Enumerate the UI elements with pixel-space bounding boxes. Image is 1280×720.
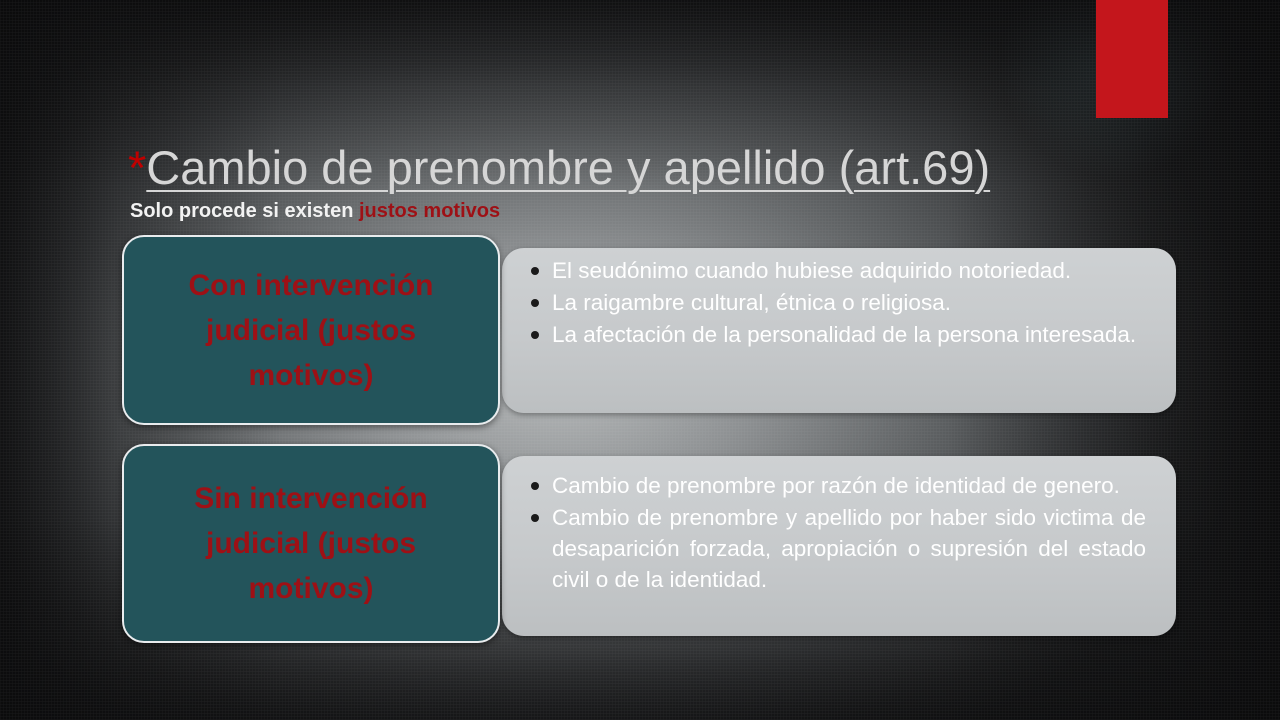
category-box-2[interactable]: Sin intervención judicial (justos motivo… [122,444,500,643]
bullet-list-1: El seudónimo cuando hubiese adquirido no… [528,255,1146,351]
bullet-text: Cambio de prenombre y apellido por haber… [552,502,1146,595]
category-box-1[interactable]: Con intervención judicial (justos motivo… [122,235,500,425]
page-title: *Cambio de prenombre y apellido (art.69) [128,140,1108,196]
category-label-2: Sin intervención judicial (justos motivo… [141,476,481,611]
bullet-text: La afectación de la personalidad de la p… [552,319,1146,350]
content-row-2: Sin intervención judicial (justos motivo… [122,444,1176,643]
list-item: La raigambre cultural, étnica o religios… [528,287,1146,318]
bullet-text: El seudónimo cuando hubiese adquirido no… [552,255,1146,286]
title-asterisk: * [128,141,146,194]
list-item: La afectación de la personalidad de la p… [528,319,1146,350]
bullet-text: La raigambre cultural, étnica o religios… [552,287,1146,318]
list-item: El seudónimo cuando hubiese adquirido no… [528,255,1146,286]
bullet-text: Cambio de prenombre por razón de identid… [552,470,1146,501]
content-row-1: Con intervención judicial (justos motivo… [122,235,1176,425]
slide-canvas: *Cambio de prenombre y apellido (art.69)… [0,0,1280,720]
title-text: Cambio de prenombre y apellido (art.69) [146,141,990,194]
subtitle-prefix: Solo procede si existen [130,200,359,222]
category-label-1: Con intervención judicial (justos motivo… [141,263,481,398]
title-block: *Cambio de prenombre y apellido (art.69) [128,140,1108,196]
red-accent-bar [1096,0,1168,118]
list-item: Cambio de prenombre por razón de identid… [528,470,1146,501]
list-item: Cambio de prenombre y apellido por haber… [528,502,1146,595]
subtitle-highlight: justos motivos [359,200,500,222]
subtitle: Solo procede si existen justos motivos [130,198,500,224]
bullet-list-2: Cambio de prenombre por razón de identid… [528,470,1146,596]
